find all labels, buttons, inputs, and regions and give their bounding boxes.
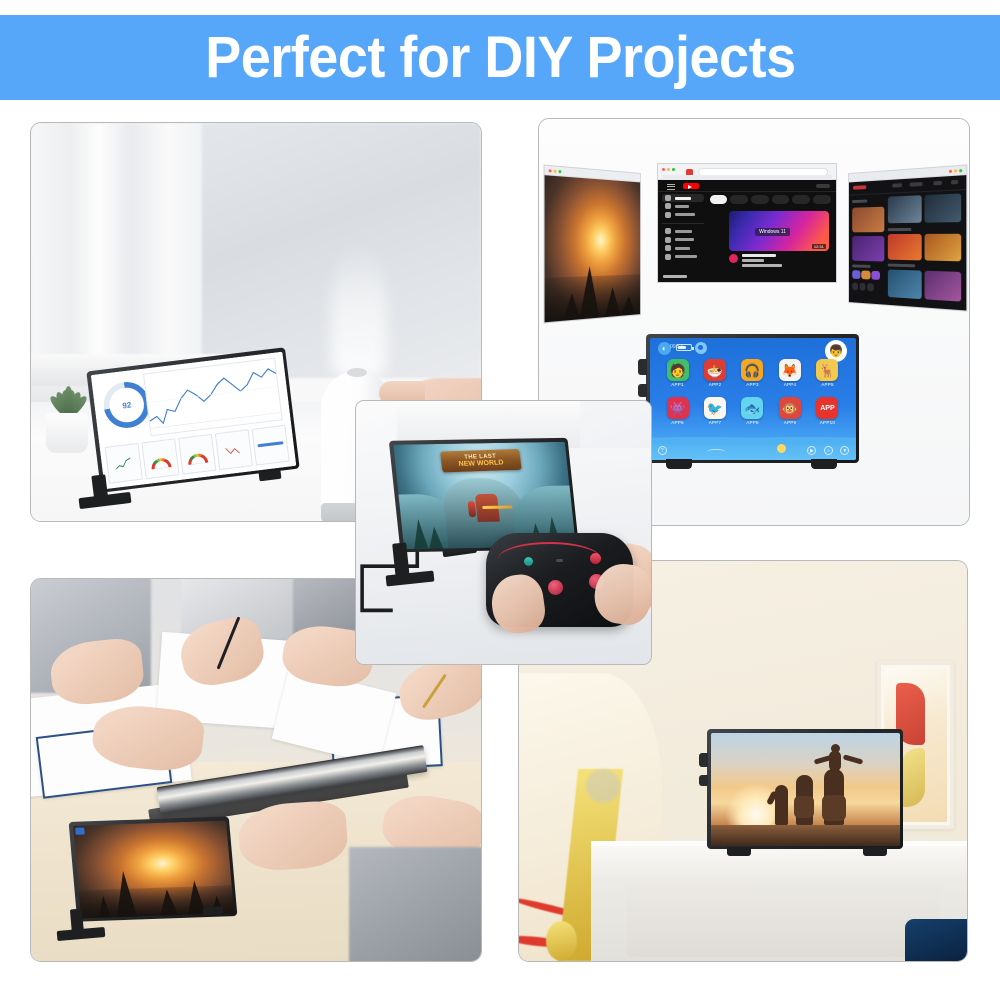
card-sparkline: [114, 455, 133, 471]
screen-sunset-photo: [544, 165, 641, 324]
app-tile-3[interactable]: 🎧 APP3: [735, 359, 770, 395]
silhouette-adult-2-head: [828, 769, 841, 782]
thumbs-up-icon: [665, 254, 671, 260]
sunset-temple-image: [545, 175, 641, 322]
gamepad-accent-stripe: [498, 542, 601, 559]
curtain: [31, 123, 211, 378]
library-icon: [665, 228, 671, 234]
sidebar-item-library[interactable]: [662, 228, 705, 236]
app-icon: 🐟: [741, 397, 763, 419]
gamepad-stick-left[interactable]: [548, 580, 563, 595]
content-card[interactable]: [925, 271, 961, 302]
pagoda-silhouette: [621, 295, 636, 315]
screen-youtube-browser: Windows 11 12:31: [657, 163, 837, 283]
youtube-header: [658, 180, 836, 192]
monitor-foot-right: [863, 847, 887, 856]
gamepad-home-button[interactable]: [556, 559, 563, 562]
youtube-page: Windows 11 12:31: [658, 180, 836, 282]
youtube-sidebar: [662, 194, 705, 274]
line-chart-svg: [144, 359, 281, 431]
channel-avatar: [729, 254, 738, 263]
app-icon: 👾: [667, 397, 689, 419]
sidebar-label: [675, 255, 697, 258]
dashboard-card[interactable]: [142, 438, 180, 479]
rainbow-gauge: [151, 457, 172, 469]
row-label: [888, 227, 912, 230]
rainbow-gauge: [187, 452, 208, 464]
avatar[interactable]: 👦: [825, 340, 847, 362]
app-icon: 🦊: [779, 359, 801, 381]
dashboard-card[interactable]: [178, 434, 216, 475]
monitor-bezel: [69, 816, 238, 921]
window-close-button[interactable]: [662, 168, 665, 171]
video-meta: [729, 254, 818, 266]
sidebar-label: [675, 213, 695, 216]
app-label: APP9: [784, 420, 797, 425]
content-card[interactable]: [852, 236, 884, 261]
section-label: [852, 199, 867, 202]
app-icon: 🦌: [816, 359, 838, 381]
monitor-screen: [72, 820, 233, 918]
card-sparkline: [224, 442, 243, 458]
youtube-ui: Windows 11 12:31: [658, 180, 836, 282]
battery-icon: [676, 344, 692, 351]
hero-card[interactable]: [888, 195, 922, 224]
bottom-wave-bar: ? ▶ » ▼: [650, 440, 856, 460]
pagoda-silhouette: [563, 293, 580, 321]
line-chart-panel: [143, 358, 283, 436]
nav-item[interactable]: [933, 181, 942, 186]
dashboard-card[interactable]: [215, 429, 253, 470]
sidebar-label: [675, 247, 690, 250]
dashboard-card[interactable]: [105, 443, 143, 484]
help-button[interactable]: ?: [658, 446, 667, 455]
shorts-icon: [665, 203, 671, 209]
screen-streaming-app: [848, 164, 967, 311]
game-title-logo: THE LAST NEW WORLD: [440, 449, 521, 473]
silhouette-adult-1-head: [799, 780, 810, 791]
filter-chip[interactable]: [730, 195, 748, 204]
app-tile-2[interactable]: 🍜 APP2: [697, 359, 732, 395]
subscriptions-icon: [665, 212, 671, 218]
app-tile-8[interactable]: 🐟 APP8: [735, 397, 770, 433]
pagoda-silhouette: [113, 870, 137, 917]
content-card[interactable]: [925, 234, 961, 261]
nav-item[interactable]: [910, 182, 923, 187]
video-title-line: [742, 254, 776, 257]
app-icon: 🎧: [741, 359, 763, 381]
family-sunset-video: [711, 733, 900, 846]
wifi-icon[interactable]: ◐: [658, 342, 671, 355]
more-button[interactable]: ▼: [840, 446, 849, 455]
screen-content: [849, 175, 966, 310]
monitor-side-buttons: [638, 384, 647, 397]
sidebar-item-home[interactable]: [662, 194, 705, 202]
card-progress-bar: [257, 441, 283, 447]
featured-video-title: Windows 11: [755, 228, 790, 236]
window-maximize-button[interactable]: [672, 168, 675, 171]
dashboard-ui: 92: [90, 351, 296, 489]
app-tile-7[interactable]: 🐦 APP7: [697, 397, 732, 433]
humidifier-nozzle: [347, 368, 367, 377]
artwork-shape: [901, 748, 926, 807]
decor-disc: [586, 769, 620, 803]
app-icon: 🍜: [704, 359, 726, 381]
app-label: APP4: [784, 382, 797, 387]
app-tile-6[interactable]: 👾 APP6: [660, 397, 695, 433]
wave-decor: [707, 449, 725, 454]
content-card[interactable]: [852, 207, 884, 232]
account-controls[interactable]: [816, 184, 830, 188]
screen-content: [545, 175, 641, 322]
app-icon: 🐦: [704, 397, 726, 419]
pagoda-silhouette: [604, 287, 620, 317]
filter-chip[interactable]: [792, 195, 810, 204]
tag-chip[interactable]: [859, 283, 865, 290]
hero-card[interactable]: [925, 193, 961, 223]
ground-silhouette: [711, 825, 900, 845]
monitor-bezel: ◐ 09:52 👦 🧑 APP1 🍜: [646, 334, 859, 463]
status-bar: ◐ 09:52 👦: [650, 338, 856, 356]
sidebar-item-shorts[interactable]: [662, 203, 705, 211]
silhouette-child-head: [778, 787, 787, 796]
silhouette-arm-right: [842, 754, 863, 764]
portable-monitor-sunset: [69, 816, 238, 921]
gear-icon[interactable]: [695, 342, 707, 354]
youtube-logo-icon: [683, 183, 699, 189]
app-icon: 🐵: [779, 397, 801, 419]
streaming-sidebar: [850, 196, 886, 301]
tag-chip[interactable]: [867, 283, 873, 291]
monitor-side-buttons: [699, 775, 708, 786]
home-icon: [665, 195, 671, 201]
sidebar-item-history[interactable]: [662, 236, 705, 244]
content-card[interactable]: [888, 270, 922, 299]
nav-item[interactable]: [892, 183, 902, 188]
dashboard-card[interactable]: [251, 425, 289, 466]
tag-chip[interactable]: [852, 283, 858, 290]
browser-chrome: [658, 164, 836, 180]
app-tile-9[interactable]: 🐵 APP9: [772, 397, 807, 433]
backpack-1: [794, 796, 814, 818]
monitor-bezel: [707, 729, 903, 849]
filter-chip-all[interactable]: [710, 195, 728, 204]
row-label: [888, 263, 915, 267]
sidebar-item-subscriptions[interactable]: [662, 211, 705, 219]
menu-icon[interactable]: [667, 184, 675, 190]
game-title-line2: NEW WORLD: [458, 459, 504, 468]
app-label: APP5: [821, 382, 834, 387]
app-label: APP6: [671, 420, 684, 425]
panel-gaming: THE LAST NEW WORLD: [355, 400, 652, 665]
dresser-drawer: [627, 881, 941, 957]
clock-icon: [665, 245, 671, 251]
monitor-side-ports: [638, 359, 647, 375]
content-card[interactable]: [888, 234, 922, 260]
monitor-foot-left: [666, 459, 692, 469]
tag-chip[interactable]: [852, 270, 860, 278]
streaming-ui: [849, 175, 966, 310]
subscriptions-footer-label: [663, 275, 687, 278]
monitor-side-ports: [699, 753, 708, 767]
header-banner: Perfect for DIY Projects: [0, 15, 1000, 100]
video-stats-line: [742, 264, 782, 267]
monitor-foot-left: [727, 847, 751, 856]
monitor-screen: [711, 733, 900, 846]
gamepad-button-a[interactable]: [590, 553, 601, 564]
filter-chip[interactable]: [751, 195, 769, 204]
section-label: [852, 264, 870, 267]
filter-chip[interactable]: [813, 195, 831, 204]
sidebar-item-liked[interactable]: [662, 253, 705, 261]
portable-monitor-family: [707, 729, 903, 849]
nav-item[interactable]: [951, 180, 958, 185]
monitor-foot-right: [811, 459, 837, 469]
gamepad-dpad[interactable]: [524, 557, 533, 566]
sidebar-label: [675, 230, 692, 233]
streaming-main: [888, 193, 964, 307]
tag-chip[interactable]: [872, 271, 881, 280]
sunset-temple-image: [72, 820, 233, 918]
app-label: APP3: [746, 382, 759, 387]
app-tile-1[interactable]: 🧑 APP1: [660, 359, 695, 395]
video-duration: 12:31: [812, 244, 826, 249]
app-icon: APP: [816, 397, 838, 419]
app-label: APP2: [709, 382, 722, 387]
app-tile-4[interactable]: 🦊 APP4: [772, 359, 807, 395]
app-icon: 🧑: [667, 359, 689, 381]
app-label: APP1: [671, 382, 684, 387]
play-button[interactable]: ▶: [807, 446, 816, 455]
filter-chip-row: [710, 195, 831, 204]
backpack-2: [822, 795, 846, 821]
window-minimize-button[interactable]: [667, 168, 670, 171]
app-label: APP7: [709, 420, 722, 425]
sidebar-label: [675, 205, 689, 208]
monitor-screen: 92: [90, 351, 296, 489]
sidebar-item-watch-later[interactable]: [662, 244, 705, 252]
app-tile-10[interactable]: APP APP10: [810, 397, 845, 433]
sidebar-label: [675, 238, 694, 241]
plant-pot: [46, 413, 88, 453]
sun-decor: [777, 444, 786, 453]
pagoda-silhouette: [97, 895, 111, 917]
silhouette-child-head-2: [831, 744, 840, 753]
filter-chip[interactable]: [772, 195, 790, 204]
app-label: APP8: [746, 420, 759, 425]
sleeve-right: [349, 847, 482, 962]
app-grid: 🧑 APP1 🍜 APP2 🎧 APP3: [660, 359, 845, 432]
game-hud-bar: [482, 505, 513, 509]
next-button[interactable]: »: [824, 446, 833, 455]
page-title: Perfect for DIY Projects: [205, 24, 795, 91]
gaming-scene: THE LAST NEW WORLD: [356, 401, 651, 664]
sidebar-divider: [662, 223, 705, 224]
app-tile-5[interactable]: 🦌 APP5: [810, 359, 845, 395]
corner-object: [905, 919, 967, 961]
channel-name-line: [742, 259, 764, 262]
pagoda-silhouette: [158, 889, 178, 916]
kids-launcher-ui: ◐ 09:52 👦 🧑 APP1 🍜: [650, 338, 856, 460]
streaming-logo: [853, 185, 866, 190]
history-icon: [665, 237, 671, 243]
app-label: APP10: [820, 420, 835, 425]
portable-monitor-kids: ◐ 09:52 👦 🧑 APP1 🍜: [646, 334, 859, 463]
tag-chip[interactable]: [862, 271, 871, 280]
pagoda-silhouette: [579, 266, 599, 319]
featured-video-thumbnail[interactable]: Windows 11 12:31: [729, 211, 829, 252]
screen-badge: [75, 827, 85, 834]
monitor-screen: ◐ 09:52 👦 🧑 APP1 🍜: [650, 338, 856, 460]
humidifier-mist: [331, 243, 387, 378]
decor-yellow-dot: [546, 921, 577, 961]
sidebar-label: [675, 197, 691, 200]
